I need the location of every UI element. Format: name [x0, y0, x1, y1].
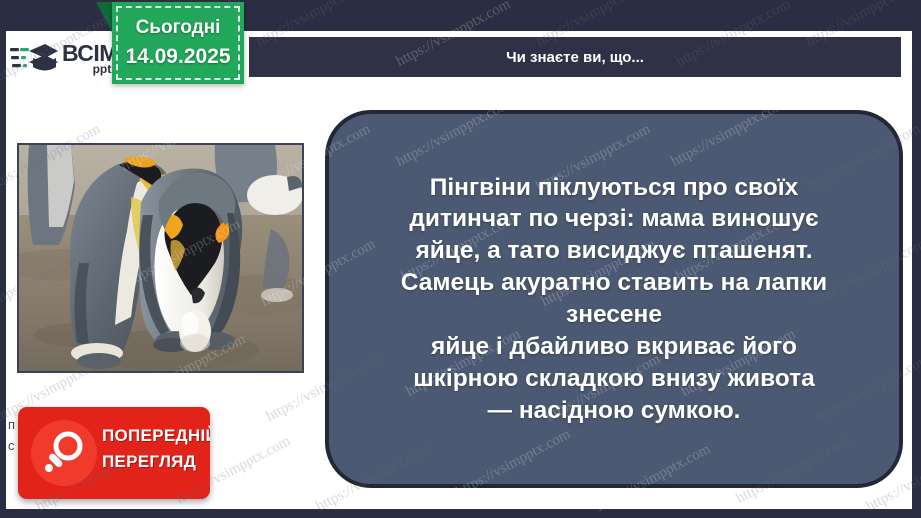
preview-badge-label: ПОПЕРЕДНІЙ ПЕРЕГЛЯД [102, 423, 206, 476]
logo-sub-text: pptx [62, 64, 118, 75]
preview-badge-line1: ПОПЕРЕДНІЙ [102, 423, 206, 449]
fact-text-panel: Пінгвіни піклуються про своїх дитинчат п… [325, 110, 903, 488]
logo-main-text: ВСІМ [62, 43, 118, 64]
date-label: Сьогодні [136, 17, 221, 39]
preview-badge[interactable]: ПОПЕРЕДНІЙ ПЕРЕГЛЯД [18, 407, 210, 499]
preview-badge-line2: ПЕРЕГЛЯД [102, 449, 206, 475]
slide-root: ВСІМ pptx Сьогодні 14.09.2025 Чи знаєте … [0, 0, 921, 518]
penguin-photo [17, 143, 304, 373]
magnifier-icon [31, 420, 97, 486]
fact-text: Пінгвіни піклуються про своїх дитинчат п… [401, 172, 827, 427]
penguin-photo-image [19, 145, 302, 371]
graduation-cap-icon [10, 40, 58, 78]
date-ribbon: Сьогодні 14.09.2025 [112, 2, 244, 84]
date-value: 14.09.2025 [125, 45, 230, 69]
header-bar: Чи знаєте ви, що... [249, 37, 901, 77]
header-title: Чи знаєте ви, що... [506, 49, 644, 66]
bottom-strip [0, 509, 921, 518]
